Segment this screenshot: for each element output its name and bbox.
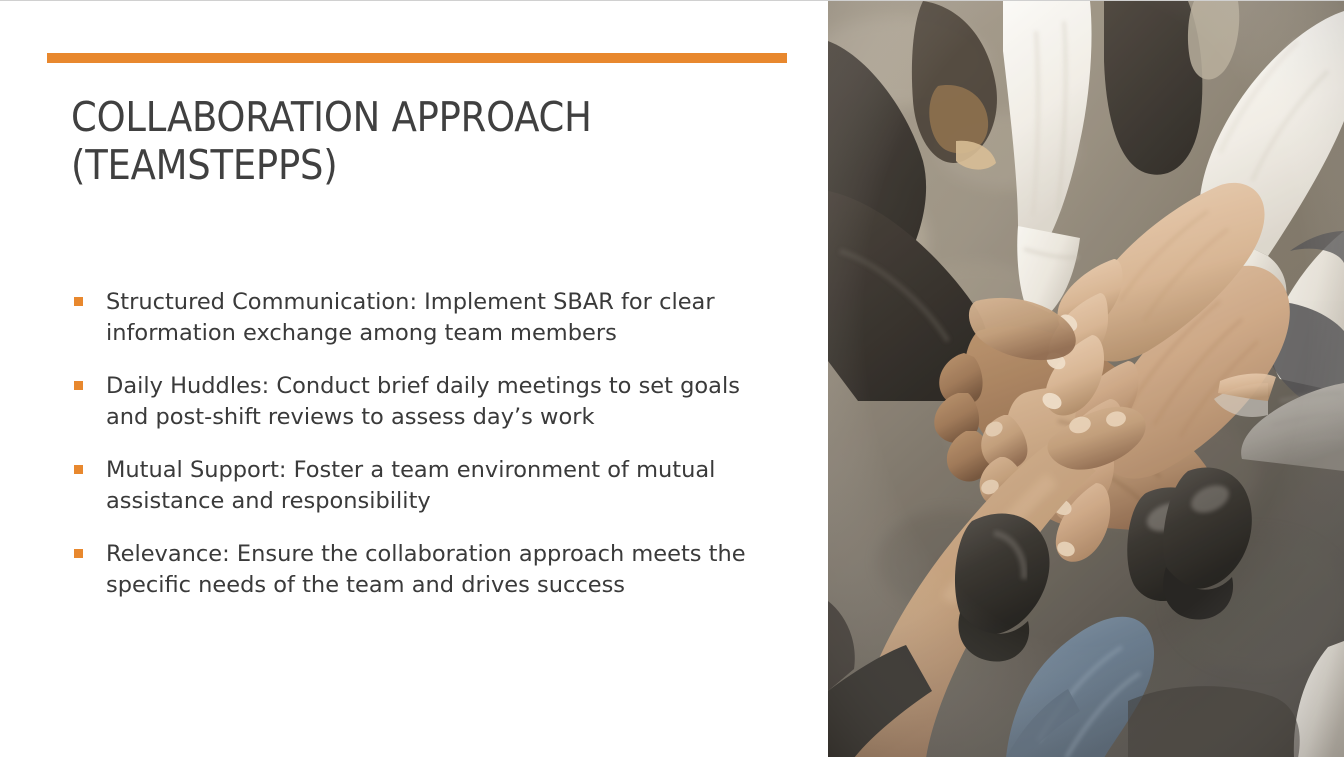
team-hands-stacked-photo: [828, 1, 1344, 757]
bullet-square-icon: [74, 549, 83, 558]
slide-title-line-1: COLLABORATION APPROACH: [71, 93, 771, 141]
bullet-square-icon: [74, 465, 83, 474]
list-item: Daily Huddles: Conduct brief daily meeti…: [71, 371, 751, 433]
list-item: Mutual Support: Foster a team environmen…: [71, 455, 751, 517]
slide-title-line-2: (TEAMSTEPPS): [71, 141, 771, 189]
bullet-square-icon: [74, 297, 83, 306]
bullet-text: Structured Communication: Implement SBAR…: [106, 287, 751, 349]
list-item: Structured Communication: Implement SBAR…: [71, 287, 751, 349]
bullet-square-icon: [74, 381, 83, 390]
slide-title: COLLABORATION APPROACH (TEAMSTEPPS): [71, 93, 771, 189]
slide-content-column: COLLABORATION APPROACH (TEAMSTEPPS) Stru…: [0, 1, 828, 757]
slide: COLLABORATION APPROACH (TEAMSTEPPS) Stru…: [0, 0, 1344, 757]
bullet-list: Structured Communication: Implement SBAR…: [71, 287, 751, 601]
list-item: Relevance: Ensure the collaboration appr…: [71, 539, 751, 601]
accent-bar: [47, 53, 787, 63]
bullet-text: Relevance: Ensure the collaboration appr…: [106, 539, 751, 601]
bullet-text: Daily Huddles: Conduct brief daily meeti…: [106, 371, 751, 433]
team-hands-illustration: [828, 1, 1344, 757]
bullet-text: Mutual Support: Foster a team environmen…: [106, 455, 751, 517]
